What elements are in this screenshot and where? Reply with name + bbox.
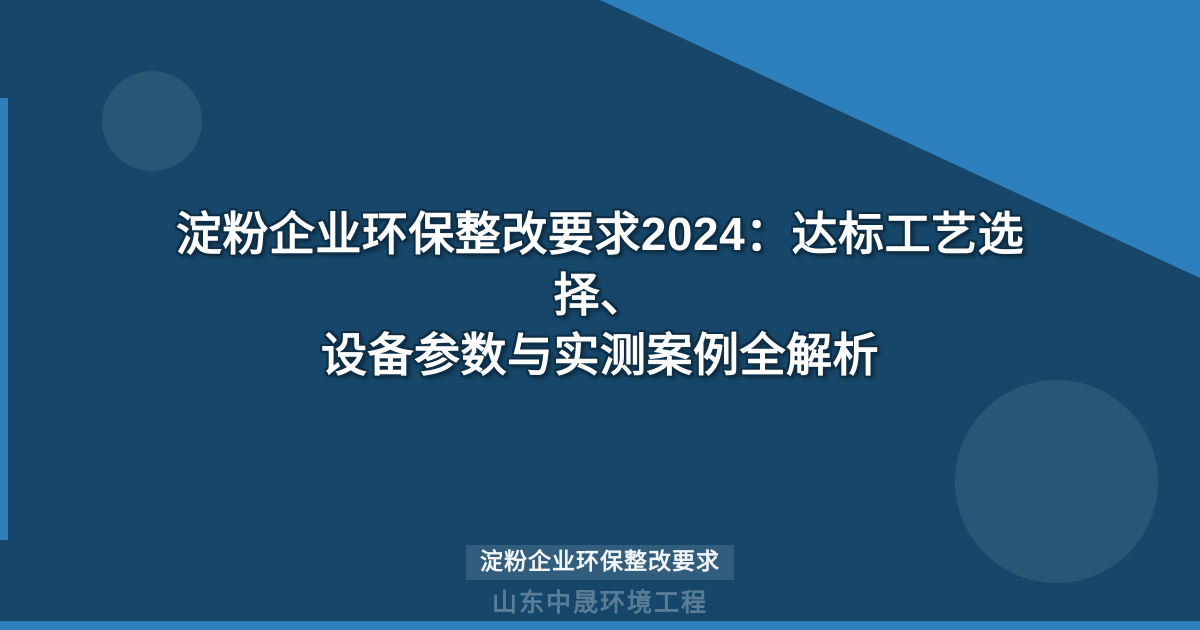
title-container: 淀粉企业环保整改要求2024：达标工艺选择、 设备参数与实测案例全解析 bbox=[0, 0, 1200, 630]
watermark: 淀粉企业环保整改要求 山东中晟环境工程 bbox=[0, 545, 1200, 618]
page-title: 淀粉企业环保整改要求2024：达标工艺选择、 设备参数与实测案例全解析 bbox=[160, 204, 1040, 386]
title-line-2: 设备参数与实测案例全解析 bbox=[321, 329, 879, 381]
watermark-primary-label: 淀粉企业环保整改要求 bbox=[466, 545, 734, 581]
watermark-secondary-label: 山东中晟环境工程 bbox=[0, 589, 1200, 618]
title-line-1: 淀粉企业环保整改要求2024：达标工艺选择、 bbox=[176, 208, 1024, 321]
cover-banner: 淀粉企业环保整改要求2024：达标工艺选择、 设备参数与实测案例全解析 淀粉企业… bbox=[0, 0, 1200, 630]
